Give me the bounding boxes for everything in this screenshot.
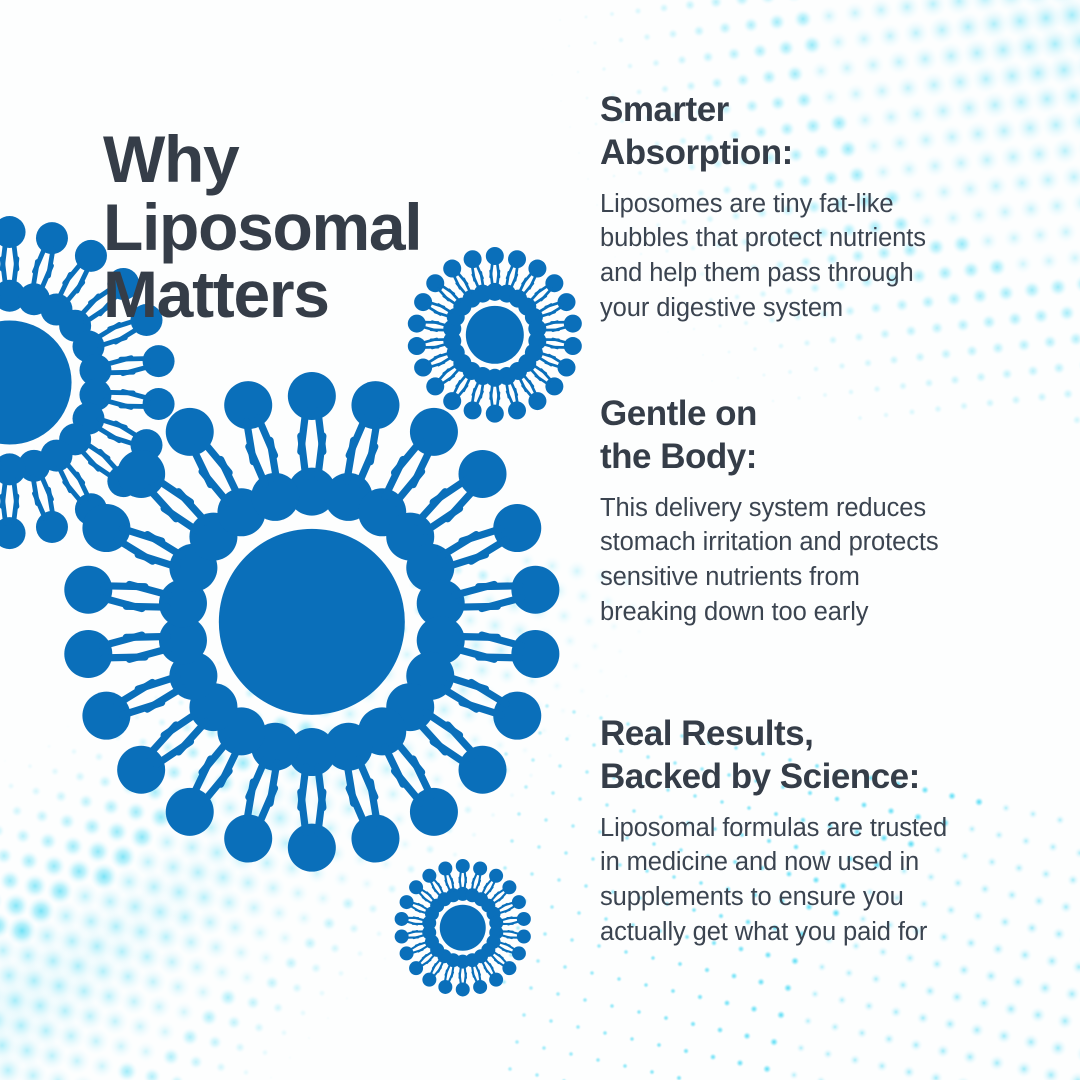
benefit-body-line: and help them pass through xyxy=(600,256,1030,291)
liposome-core xyxy=(219,529,405,715)
benefit-heading-line: Absorption: xyxy=(600,131,1030,174)
liposome-illustration-bottom xyxy=(392,857,533,998)
benefit-heading-line: Backed by Science: xyxy=(600,755,1030,798)
benefit-body-line: stomach irritation and protects xyxy=(600,525,1030,560)
benefit-body-gentle-on-the-body: This delivery system reduces stomach irr… xyxy=(600,491,1030,630)
benefit-heading-real-results-backed-by-science: Real Results, Backed by Science: xyxy=(600,712,1030,799)
benefit-body-line: This delivery system reduces xyxy=(600,491,1030,526)
benefit-heading-gentle-on-the-body: Gentle on the Body: xyxy=(600,392,1030,479)
page-title-line-1: Why xyxy=(103,126,573,193)
benefit-heading-line: the Body: xyxy=(600,435,1030,478)
benefit-heading-smarter-absorption: Smarter Absorption: xyxy=(600,88,1030,175)
benefit-heading-line: Smarter xyxy=(600,88,1030,131)
benefit-heading-line: Gentle on xyxy=(600,392,1030,435)
infographic-canvas: Why Liposomal Matters Smarter Absorption… xyxy=(0,0,1080,1080)
benefit-body-line: Liposomal formulas are trusted xyxy=(600,811,1030,846)
page-title-line-3: Matters xyxy=(103,261,573,328)
benefit-body-line: bubbles that protect nutrients xyxy=(600,221,1030,256)
benefit-body-line: sensitive nutrients from xyxy=(600,560,1030,595)
page-title: Why Liposomal Matters xyxy=(103,126,573,328)
benefit-block-smarter-absorption: Smarter Absorption: Liposomes are tiny f… xyxy=(600,88,1030,325)
liposome-illustration-main xyxy=(60,370,564,874)
liposome-core xyxy=(440,905,486,951)
benefit-body-line: your digestive system xyxy=(600,291,1030,326)
page-title-line-2: Liposomal xyxy=(103,194,573,261)
benefit-body-smarter-absorption: Liposomes are tiny fat-like bubbles that… xyxy=(600,187,1030,326)
benefit-heading-line: Real Results, xyxy=(600,712,1030,755)
benefit-block-gentle-on-the-body: Gentle on the Body: This delivery system… xyxy=(600,392,1030,629)
benefit-body-line: breaking down too early xyxy=(600,595,1030,630)
benefit-body-line: in medicine and now used in xyxy=(600,845,1030,880)
benefit-body-real-results-backed-by-science: Liposomal formulas are trusted in medici… xyxy=(600,811,1030,950)
benefit-block-real-results-backed-by-science: Real Results, Backed by Science: Liposom… xyxy=(600,712,1030,949)
benefit-body-line: actually get what you paid for xyxy=(600,915,1030,950)
benefit-body-line: supplements to ensure you xyxy=(600,880,1030,915)
benefit-body-line: Liposomes are tiny fat-like xyxy=(600,187,1030,222)
